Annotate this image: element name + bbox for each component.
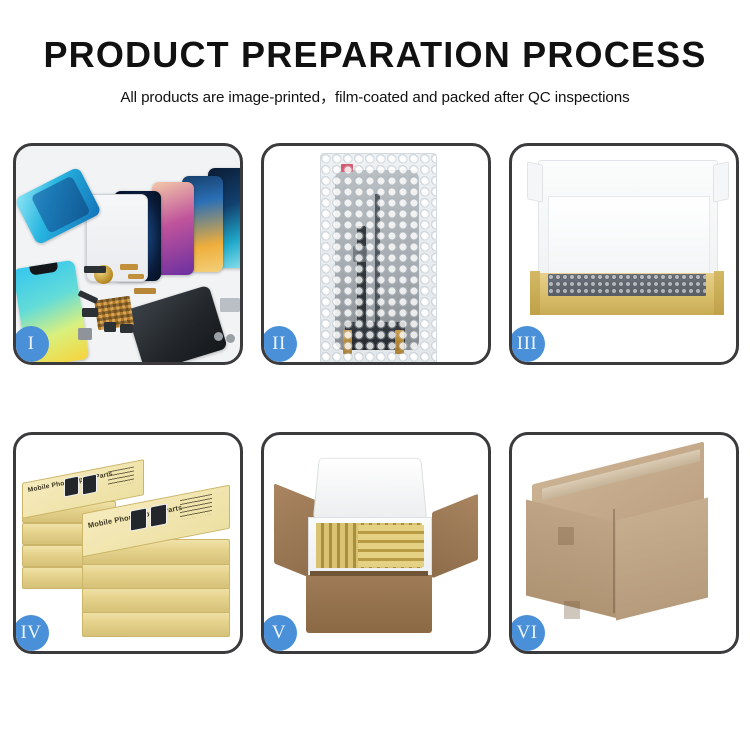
- process-step-2[interactable]: II: [261, 143, 491, 365]
- spare-part-tool: [220, 298, 240, 312]
- box-artwork-phone-back-1: [64, 476, 79, 498]
- lcd-flex-cable: [357, 226, 366, 326]
- process-step-1[interactable]: I: [13, 143, 243, 365]
- box-artwork-phone-front-2: [150, 503, 167, 527]
- spare-part-cable: [78, 290, 99, 304]
- process-step-6[interactable]: VI: [509, 432, 739, 654]
- white-foam-padding: [548, 196, 710, 276]
- carton-with-foam-liner-photo: [264, 435, 488, 651]
- foam-lid: [313, 458, 427, 520]
- retail-box-front-4: [82, 587, 230, 613]
- red-label-sticker: [341, 164, 353, 172]
- carton-right-face: [616, 498, 708, 621]
- phone-back-housing: [126, 285, 228, 362]
- step-badge-3: III: [509, 326, 545, 362]
- spare-part-button: [82, 308, 98, 317]
- carton-vertical-edge: [613, 509, 615, 613]
- carton-flap-right: [432, 494, 478, 579]
- step-badge-4: IV: [13, 615, 49, 651]
- box-artwork-phone-back-2: [82, 474, 97, 496]
- process-step-grid: I II III: [13, 143, 740, 676]
- gold-contact-left: [343, 330, 352, 354]
- lcd-driver-ic: [353, 246, 367, 262]
- bubble-wrapped-contents: [548, 274, 706, 296]
- spare-part-bracket: [78, 328, 92, 340]
- sealed-shipping-carton-photo: [512, 435, 736, 651]
- spare-part-camera: [104, 322, 116, 332]
- process-step-3[interactable]: III: [509, 143, 739, 365]
- carton-flap-tab-upper: [558, 527, 574, 545]
- step-badge-5: V: [261, 615, 297, 651]
- page-subtitle: All products are image-printed，film-coat…: [0, 74, 750, 107]
- step-badge-2: II: [261, 326, 297, 362]
- retail-box-front-3: [82, 563, 230, 589]
- bubble-wrap-bag: [320, 153, 437, 362]
- spare-part-ribbon: [134, 288, 156, 294]
- process-step-4[interactable]: Mobile Phone Spare Parts Mobile Phone Sp…: [13, 432, 243, 654]
- page-header: PRODUCT PREPARATION PROCESS All products…: [0, 0, 750, 107]
- step-badge-1: I: [13, 326, 49, 362]
- spare-part-jack: [120, 324, 133, 333]
- gold-contact-right: [395, 330, 404, 354]
- spare-part-speaker: [84, 266, 106, 273]
- phone-screens-and-spare-parts-photo: [16, 146, 240, 362]
- box-stack: Mobile Phone Spare Parts Mobile Phone Sp…: [16, 435, 240, 651]
- bubble-wrapped-lcd-photo: [264, 146, 488, 362]
- spare-part-screw-1: [214, 332, 223, 341]
- stacked-retail-boxes-photo: Mobile Phone Spare Parts Mobile Phone Sp…: [16, 435, 240, 651]
- open-kraft-tray-box-photo: [512, 146, 736, 362]
- process-step-5[interactable]: V: [261, 432, 491, 654]
- box-artwork-phone-front-1: [130, 507, 147, 531]
- retail-box-front-5: [82, 611, 230, 637]
- packed-retail-boxes-secondary: [358, 525, 424, 567]
- step-badge-6: VI: [509, 615, 545, 651]
- spare-part-flex-gold-2: [128, 274, 144, 279]
- page-title: PRODUCT PREPARATION PROCESS: [0, 0, 750, 74]
- spare-part-screw-2: [226, 334, 235, 343]
- lcd-flex-cable-secondary: [375, 194, 380, 329]
- carton-front-wall: [306, 575, 432, 633]
- carton-flap-tab-lower: [564, 601, 580, 619]
- spare-part-flex-gold: [120, 264, 138, 270]
